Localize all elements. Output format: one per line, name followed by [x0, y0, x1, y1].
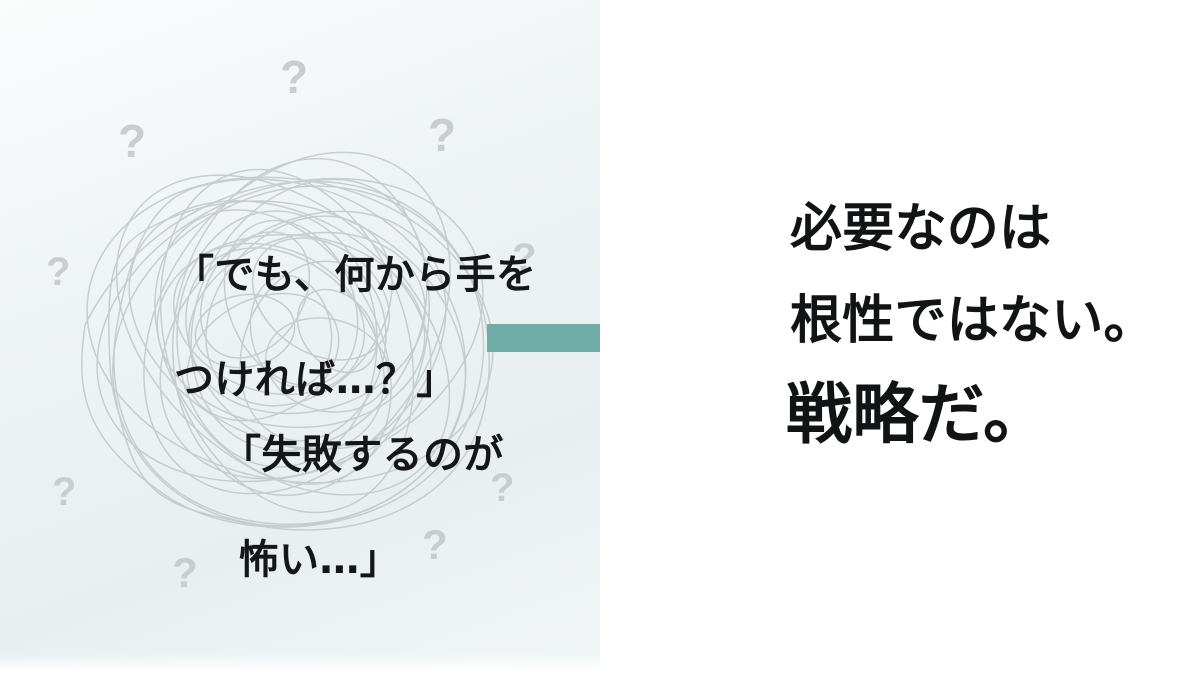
- solution-headline-line2: 根性ではない。: [790, 295, 1156, 347]
- slide-canvas: ? ? ? ? ? ? ? ? ? 「でも、何から手を つければ…？」 「失敗す…: [0, 0, 1200, 675]
- question-mark-icon: ?: [428, 112, 456, 158]
- question-mark-icon: ?: [280, 54, 308, 100]
- solution-panel: 必要なのは 根性ではない。 戦略だ。: [600, 0, 1200, 675]
- problem-quote-one-line1: 「でも、何から手を: [174, 252, 536, 298]
- problem-quote-two-line1: 「失敗するのが: [221, 432, 504, 478]
- question-mark-icon: ?: [52, 472, 76, 512]
- question-mark-icon: ?: [118, 118, 146, 164]
- question-mark-icon: ?: [46, 252, 70, 292]
- problem-quote-two: 「失敗するのが 怖い…」: [135, 376, 504, 675]
- problem-quote-two-line2: 怖い…」: [135, 534, 504, 587]
- solution-headline-line3: 戦略だ。: [786, 382, 1049, 448]
- panel-bottom-fade: [0, 653, 600, 675]
- solution-headline-line1: 必要なのは: [790, 203, 1051, 255]
